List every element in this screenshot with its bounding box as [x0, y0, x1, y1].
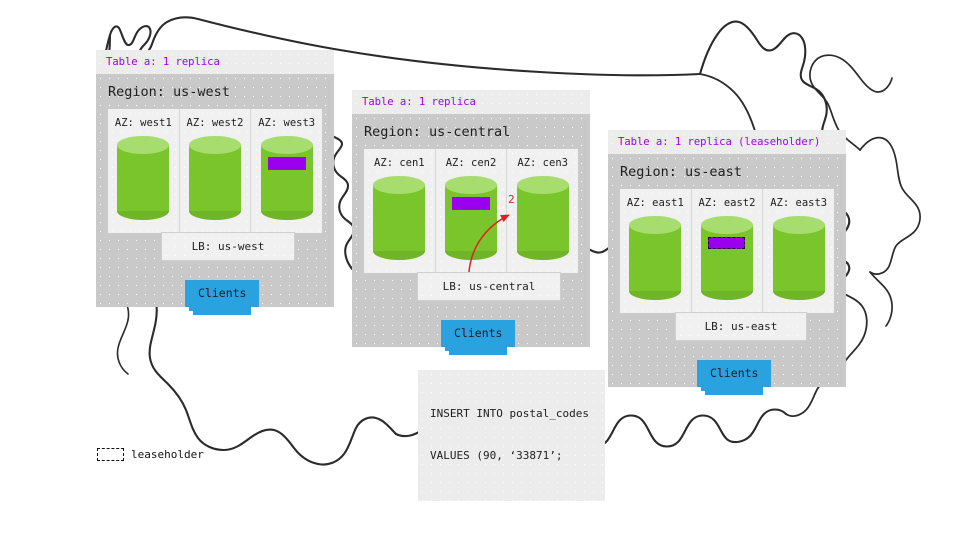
lb-label: LB: us-central — [443, 280, 536, 293]
node-cylinder[interactable] — [517, 176, 569, 260]
az-label: AZ: east3 — [770, 189, 827, 216]
load-balancer-us-central[interactable]: LB: us-central — [417, 272, 561, 301]
region-title: Region: us-west — [96, 74, 334, 109]
az-east2[interactable]: AZ: east2 — [692, 189, 764, 313]
az-east1[interactable]: AZ: east1 — [620, 189, 692, 313]
node-cylinder[interactable] — [629, 216, 681, 300]
node-cylinder[interactable] — [445, 176, 497, 260]
az-east3[interactable]: AZ: east3 — [763, 189, 834, 313]
sql-line-2: VALUES (90, ‘33871’; — [430, 449, 594, 463]
node-cylinder[interactable] — [701, 216, 753, 300]
region-header-us-central: Table a: 1 replica — [352, 90, 590, 114]
clients-label-face[interactable]: Clients — [697, 360, 771, 387]
node-cylinder[interactable] — [261, 136, 313, 220]
cylinder-top — [517, 176, 569, 194]
az-label: AZ: east1 — [627, 189, 684, 216]
cylinder-body — [117, 145, 169, 211]
cylinder-top — [445, 176, 497, 194]
clients-label: Clients — [710, 366, 758, 380]
az-label: AZ: west1 — [115, 109, 172, 136]
lb-label: LB: us-west — [192, 240, 265, 253]
replica-marker[interactable] — [268, 157, 306, 170]
node-cylinder[interactable] — [773, 216, 825, 300]
replica-marker[interactable] — [452, 197, 490, 210]
az-row-us-central: AZ: cen1 AZ: cen2 — [364, 149, 578, 273]
az-label: AZ: cen1 — [374, 149, 425, 176]
az-row-us-east: AZ: east1 AZ: east2 — [620, 189, 834, 313]
sql-statement-box: INSERT INTO postal_codes VALUES (90, ‘33… — [418, 370, 605, 501]
cylinder-body — [629, 225, 681, 291]
cylinder-top — [117, 136, 169, 154]
region-body-us-east: Region: us-east AZ: east1 AZ: east2 — [608, 154, 846, 387]
region-header-label: Table a: 1 replica — [362, 96, 476, 108]
legend-label: leaseholder — [131, 448, 204, 461]
clients-label: Clients — [454, 326, 502, 340]
cylinder-top — [701, 216, 753, 234]
cylinder-body — [261, 145, 313, 211]
az-cen3[interactable]: AZ: cen3 — [507, 149, 578, 273]
region-header-label: Table a: 1 replica — [106, 56, 220, 68]
az-west3[interactable]: AZ: west3 — [251, 109, 322, 233]
load-balancer-us-east[interactable]: LB: us-east — [675, 312, 807, 341]
region-panel-us-east: Table a: 1 replica (leaseholder) Region:… — [608, 130, 846, 387]
az-cen2[interactable]: AZ: cen2 — [436, 149, 508, 273]
region-title: Region: us-central — [352, 114, 590, 149]
region-header-label: Table a: 1 replica (leaseholder) — [618, 136, 820, 148]
clients-label: Clients — [198, 286, 246, 300]
region-body-us-west: Region: us-west AZ: west1 AZ: west2 — [96, 74, 334, 307]
dashed-rectangle-icon — [97, 448, 124, 461]
cylinder-top — [261, 136, 313, 154]
region-title: Region: us-east — [608, 154, 846, 189]
cylinder-body — [773, 225, 825, 291]
cylinder-top — [773, 216, 825, 234]
az-west2[interactable]: AZ: west2 — [180, 109, 252, 233]
region-panel-us-west: Table a: 1 replica Region: us-west AZ: w… — [96, 50, 334, 307]
clients-button-us-east[interactable]: Clients — [697, 360, 771, 387]
load-balancer-us-west[interactable]: LB: us-west — [161, 232, 295, 261]
az-west1[interactable]: AZ: west1 — [108, 109, 180, 233]
clients-button-us-central[interactable]: Clients — [441, 320, 515, 347]
az-label: AZ: east2 — [699, 189, 756, 216]
node-cylinder[interactable] — [117, 136, 169, 220]
region-header-us-east: Table a: 1 replica (leaseholder) — [608, 130, 846, 154]
az-row-us-west: AZ: west1 AZ: west2 AZ — [108, 109, 322, 233]
cylinder-body — [701, 225, 753, 291]
legend-leaseholder: leaseholder — [97, 448, 204, 461]
cylinder-body — [373, 185, 425, 251]
az-label: AZ: cen3 — [517, 149, 568, 176]
clients-label-face[interactable]: Clients — [185, 280, 259, 307]
cylinder-top — [373, 176, 425, 194]
clients-label-face[interactable]: Clients — [441, 320, 515, 347]
cylinder-body — [189, 145, 241, 211]
lb-label: LB: us-east — [705, 320, 778, 333]
region-panel-us-central: Table a: 1 replica Region: us-central AZ… — [352, 90, 590, 347]
region-body-us-central: Region: us-central AZ: cen1 AZ: cen2 — [352, 114, 590, 347]
node-cylinder[interactable] — [189, 136, 241, 220]
node-cylinder[interactable] — [373, 176, 425, 260]
replica-marker-leaseholder[interactable] — [708, 237, 745, 249]
az-label: AZ: west3 — [258, 109, 315, 136]
cylinder-body — [445, 185, 497, 251]
sql-line-1: INSERT INTO postal_codes — [430, 407, 594, 421]
cylinder-body — [517, 185, 569, 251]
diagram-canvas: Table a: 1 replica Region: us-west AZ: w… — [0, 0, 960, 540]
az-label: AZ: west2 — [187, 109, 244, 136]
az-label: AZ: cen2 — [446, 149, 497, 176]
clients-button-us-west[interactable]: Clients — [185, 280, 259, 307]
arrow-step-label: 2 — [508, 193, 515, 206]
region-header-us-west: Table a: 1 replica — [96, 50, 334, 74]
cylinder-top — [629, 216, 681, 234]
az-cen1[interactable]: AZ: cen1 — [364, 149, 436, 273]
cylinder-top — [189, 136, 241, 154]
